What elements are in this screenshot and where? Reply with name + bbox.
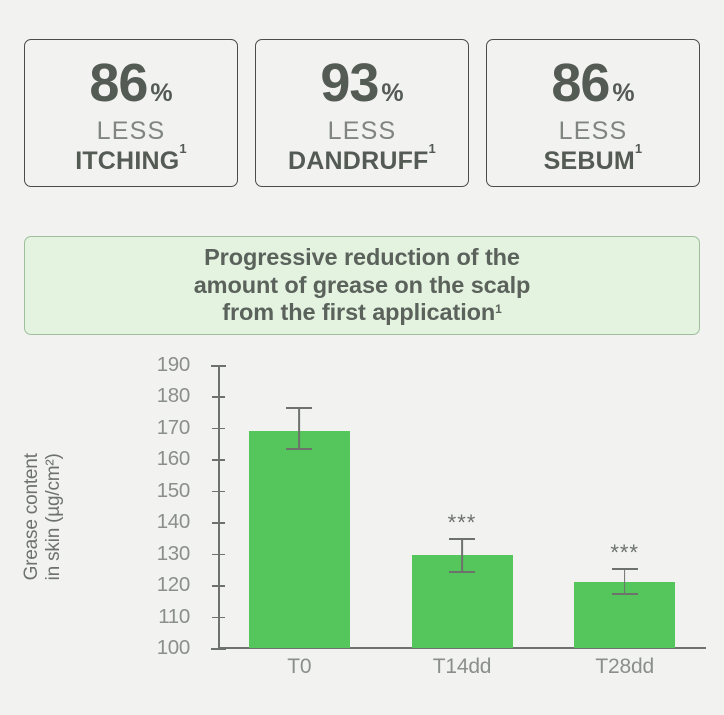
error-bar-t14dd: [449, 538, 475, 573]
stat-card-dandruff: 93 % LESS DANDRUFF1: [255, 39, 469, 187]
stat-metric-text: ITCHING: [75, 149, 179, 174]
y-axis-title-line-2: in skin (µg/cm²): [43, 453, 64, 580]
error-bar-t28dd: [612, 568, 638, 595]
stat-card-itching: 86 % LESS ITCHING1: [24, 39, 238, 187]
stat-less-label: LESS: [559, 119, 628, 144]
stat-metric-label: SEBUM1: [544, 149, 643, 174]
x-tick-label-t28dd: T28dd: [595, 655, 654, 679]
stats-row: 86 % LESS ITCHING1 93 % LESS DANDRUFF1 8…: [24, 39, 700, 187]
error-bar-cap-bottom: [286, 448, 312, 450]
error-bar-cap-top: [286, 407, 312, 409]
stat-less-label: LESS: [328, 119, 397, 144]
y-axis-title: Grease content in skin (µg/cm²): [21, 402, 65, 632]
error-bar-stem: [624, 568, 626, 595]
y-tick-label: 100: [157, 636, 190, 660]
error-bar-cap-bottom: [612, 593, 638, 595]
title-line-2: amount of grease on the scalp: [194, 272, 531, 298]
footnote-marker: 1: [179, 142, 186, 155]
stat-number: 93: [320, 56, 378, 110]
error-bar-stem: [461, 538, 463, 573]
y-tick-label: 120: [157, 573, 190, 597]
stat-number: 86: [551, 56, 609, 110]
title-line-3: from the first application: [222, 299, 495, 325]
significance-marker: ***: [448, 512, 477, 534]
significance-marker: ***: [610, 542, 639, 564]
y-tick-label: 180: [157, 384, 190, 408]
error-bar-cap-bottom: [449, 571, 475, 573]
footnote-marker: 1: [429, 142, 436, 155]
x-tick-label-t14dd: T14dd: [433, 655, 492, 679]
bar-t0: [249, 431, 350, 648]
plot-area: ******: [218, 365, 706, 648]
y-tick-label: 140: [157, 510, 190, 534]
footnote-marker: 1: [635, 142, 642, 155]
chart-title-banner: Progressive reduction of the amount of g…: [24, 236, 700, 335]
y-tick-label: 190: [157, 353, 190, 377]
stat-less-label: LESS: [97, 119, 166, 144]
stat-number-row: 86 %: [551, 56, 634, 110]
stat-metric-label: ITCHING1: [75, 149, 187, 174]
stat-metric-label: DANDRUFF1: [288, 149, 436, 174]
y-axis-title-line-1: Grease content: [21, 453, 42, 580]
stat-metric-text: DANDRUFF: [288, 149, 428, 174]
x-tick-label-t0: T0: [287, 655, 311, 679]
percent-symbol: %: [612, 81, 634, 106]
bar-chart: Grease content in skin (µg/cm²) 19018017…: [0, 345, 724, 685]
y-tick-label: 150: [157, 479, 190, 503]
error-bar-cap-top: [612, 568, 638, 570]
stat-number-row: 93 %: [320, 56, 403, 110]
y-tick-label: 160: [157, 447, 190, 471]
error-bar-t0: [286, 407, 312, 449]
y-tick-label: 110: [158, 605, 190, 629]
stat-metric-text: SEBUM: [544, 149, 635, 174]
stat-card-sebum: 86 % LESS SEBUM1: [486, 39, 700, 187]
title-line-1: Progressive reduction of the: [204, 244, 520, 270]
percent-symbol: %: [381, 81, 403, 106]
stat-number-row: 86 %: [89, 56, 172, 110]
y-axis-tick-labels: 190180170160150140130120110100: [128, 355, 190, 643]
chart-title-text: Progressive reduction of the amount of g…: [194, 244, 531, 328]
error-bar-cap-top: [449, 538, 475, 540]
percent-symbol: %: [150, 81, 172, 106]
footnote-marker: 1: [495, 302, 502, 316]
error-bar-stem: [298, 407, 300, 449]
y-tick-label: 130: [157, 542, 190, 566]
y-tick-label: 170: [157, 416, 190, 440]
stat-number: 86: [89, 56, 147, 110]
